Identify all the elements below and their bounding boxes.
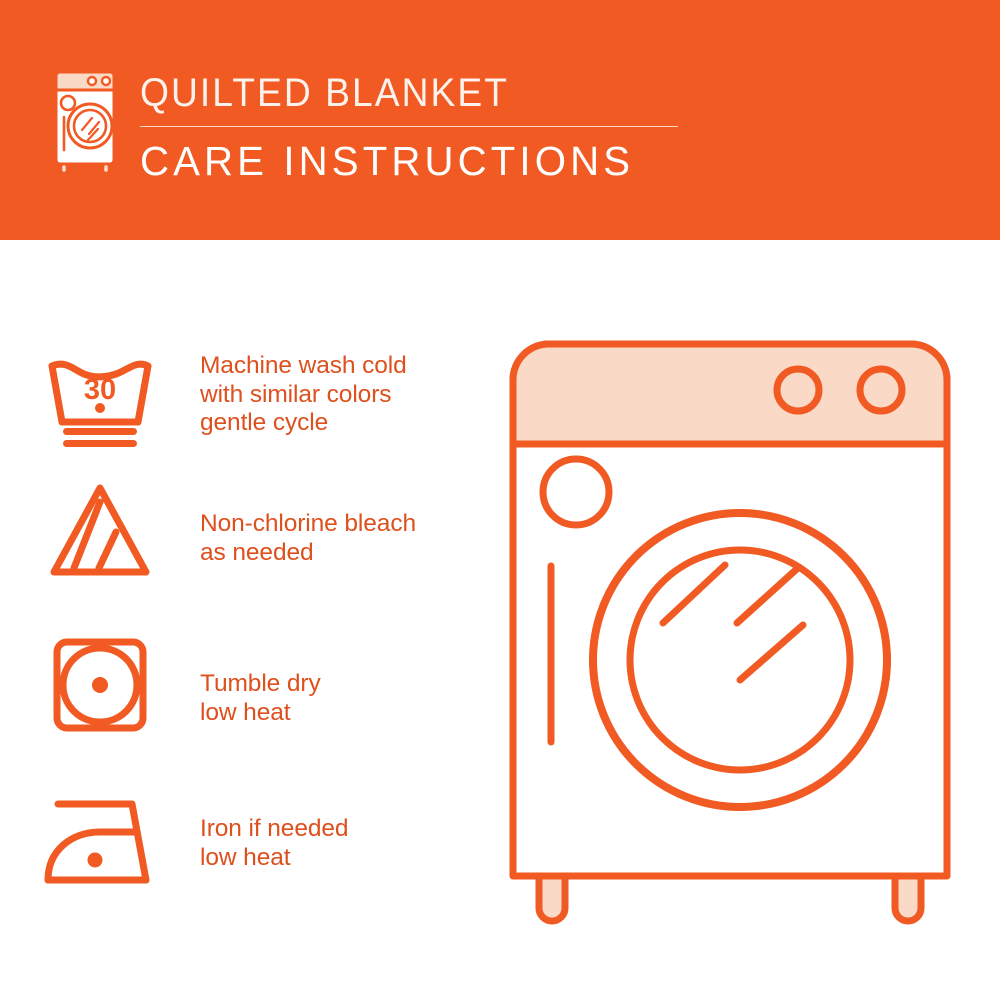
washer-door-inner — [630, 550, 850, 770]
wash-temperature-label: 30 — [84, 374, 116, 406]
care-line: Non-chlorine bleach — [200, 510, 480, 539]
washer-leg-left — [539, 876, 565, 921]
care-text-iron: Iron if needed low heat — [200, 815, 480, 872]
care-line: as needed — [200, 539, 480, 568]
washing-machine-icon — [44, 68, 118, 176]
care-line: low heat — [200, 844, 480, 873]
tumble-dry-icon — [40, 630, 160, 740]
washer-knob-left — [777, 369, 819, 411]
care-line: Iron if needed — [200, 815, 480, 844]
wash-tub-30-icon: 30 — [40, 340, 160, 460]
washer-leg-right — [895, 876, 921, 921]
care-text-tumble-dry: Tumble dry low heat — [200, 670, 480, 727]
page-header: QUILTED BLANKET CARE INSTRUCTIONS — [0, 0, 1000, 240]
page-title-secondary: CARE INSTRUCTIONS — [140, 137, 689, 185]
page-title-primary: QUILTED BLANKET — [140, 70, 661, 116]
title-divider — [140, 126, 678, 127]
care-instructions-page: QUILTED BLANKET CARE INSTRUCTIONS 30 Mac… — [0, 0, 1000, 1000]
care-line: with similar colors — [200, 381, 480, 410]
care-line: gentle cycle — [200, 409, 480, 438]
front-load-washing-machine-illustration — [495, 330, 965, 940]
care-instructions-list: 30 Machine wash cold with similar colors… — [0, 240, 480, 1000]
header-title-group: QUILTED BLANKET CARE INSTRUCTIONS — [140, 70, 700, 185]
iron-icon — [40, 785, 160, 895]
washer-knob-right — [860, 369, 902, 411]
bleach-triangle-icon — [40, 475, 160, 585]
care-line: low heat — [200, 699, 480, 728]
care-text-machine-wash: Machine wash cold with similar colors ge… — [200, 352, 480, 438]
care-line: Machine wash cold — [200, 352, 480, 381]
washer-dial — [543, 459, 609, 525]
care-line: Tumble dry — [200, 670, 480, 699]
care-text-bleach: Non-chlorine bleach as needed — [200, 510, 480, 567]
